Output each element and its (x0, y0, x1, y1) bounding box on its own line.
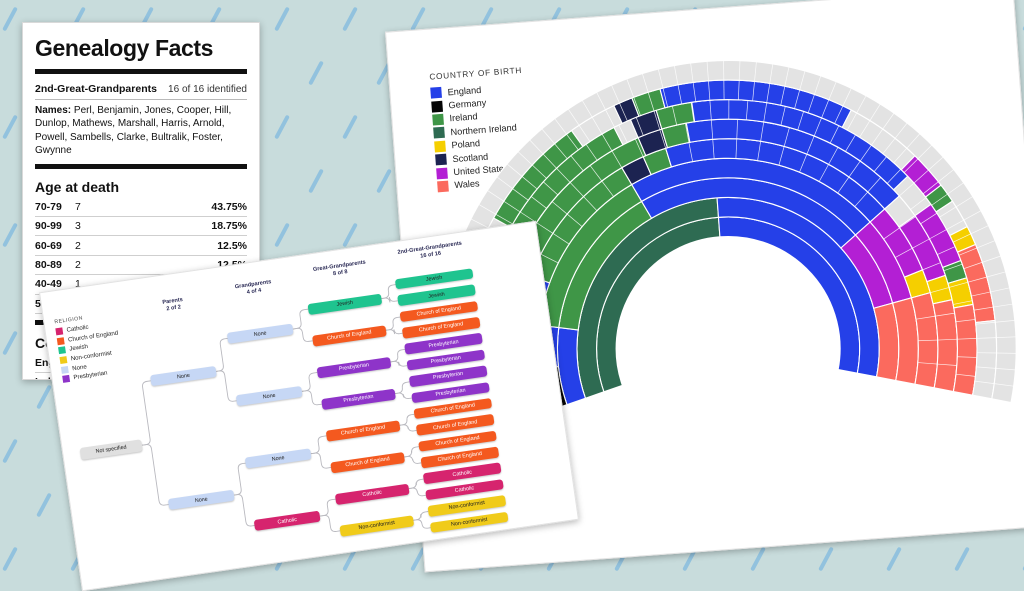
religion-swatch-icon (57, 337, 65, 345)
node-label: Church of England (416, 305, 461, 317)
religion-swatch-icon (61, 366, 69, 374)
age-percent: 12.5% (217, 240, 247, 252)
node-label: Presbyterian (435, 387, 466, 397)
page-title: Genealogy Facts (35, 35, 247, 62)
column-count: 2 of 2 (166, 305, 181, 313)
node-label: Church of England (419, 322, 464, 334)
background-dash (342, 115, 358, 140)
tree-node-grandparent[interactable]: None (245, 448, 312, 468)
religion-swatch-icon (58, 347, 66, 355)
tree-column-header: Parents2 of 2 (131, 292, 216, 319)
node-label: Catholic (277, 516, 297, 525)
tree-column-header: Great-Grandparents8 of 8 (297, 257, 382, 284)
node-label: Presbyterian (339, 362, 370, 372)
node-label: None (271, 455, 285, 463)
age-range: 60-69 (35, 240, 75, 252)
section-divider (35, 164, 247, 169)
tree-node-great-grandparent[interactable]: Church of England (326, 420, 401, 441)
religion-swatch-icon (55, 328, 63, 336)
tree-node-great-grandparent[interactable]: Presbyterian (317, 356, 392, 377)
age-row: 90-99318.75% (35, 217, 247, 236)
background-dash (376, 169, 392, 194)
age-row: 60-69212.5% (35, 236, 247, 255)
age-range: 80-89 (35, 259, 75, 271)
tree-node-parent[interactable]: None (168, 490, 235, 510)
tree-node-great-grandparent[interactable]: Presbyterian (321, 388, 396, 409)
background-dash (818, 547, 834, 572)
node-label: Catholic (452, 469, 472, 478)
age-range: 70-79 (35, 201, 75, 213)
tree-node-grandparent[interactable]: None (227, 324, 294, 344)
tree-node-parent[interactable]: None (150, 366, 217, 386)
node-label: Jewish (428, 291, 445, 299)
background-dash (308, 169, 324, 194)
background-dash (308, 61, 324, 86)
background-dash (36, 385, 52, 410)
age-at-death-title: Age at death (35, 175, 247, 198)
background-dash (36, 493, 52, 518)
tree-column-header: Grandparents4 of 4 (211, 276, 296, 303)
node-label: Non-conformist (448, 500, 485, 511)
node-label: Jewish (426, 275, 443, 283)
node-label: Church of England (341, 424, 386, 436)
node-label: Presbyterian (343, 394, 374, 404)
node-label: None (253, 330, 267, 338)
religion-legend: RELIGION CatholicChurch of EnglandJewish… (54, 311, 124, 385)
tree-node-great-grandparent[interactable]: Jewish (307, 293, 382, 314)
generation-label: 2nd-Great-Grandparents (35, 83, 157, 95)
column-count: 16 of 16 (420, 251, 441, 260)
background-dash (2, 439, 18, 464)
age-percent: 18.75% (211, 220, 247, 232)
background-dash (954, 547, 970, 572)
names-label: Names: (35, 105, 71, 116)
node-label: None (194, 496, 208, 504)
religion-swatch-icon (59, 356, 67, 364)
node-label: Church of England (430, 403, 475, 415)
age-range: 90-99 (35, 220, 75, 232)
node-label: None (177, 372, 191, 380)
tree-node-great-grandparent[interactable]: Catholic (335, 483, 410, 504)
node-label: Presbyterian (428, 339, 459, 349)
background-dash (342, 223, 358, 248)
tree-node-great-grandparent[interactable]: Church of England (312, 325, 387, 346)
age-percent: 43.75% (211, 201, 247, 213)
age-count: 7 (75, 201, 211, 213)
node-label: Church of England (345, 456, 390, 468)
background-dash (750, 547, 766, 572)
node-label: Not specified (95, 444, 127, 454)
node-label: Non-conformist (358, 520, 395, 531)
background-dash (2, 547, 18, 572)
age-count: 3 (75, 220, 211, 232)
node-label: Non-conformist (451, 517, 488, 528)
age-row: 70-79743.75% (35, 198, 247, 217)
tree-column-header: 2nd-Great-Grandparents16 of 16 (388, 239, 473, 266)
religion-swatch-icon (62, 375, 70, 383)
background-dash (2, 115, 18, 140)
tree-node-great-grandparent[interactable]: Church of England (330, 451, 405, 472)
node-label: Church of England (433, 419, 478, 431)
node-label: Jewish (336, 300, 353, 308)
tree-node-grandparent[interactable]: None (236, 386, 303, 406)
background-dash (410, 7, 426, 32)
religion-legend-label: Presbyterian (73, 370, 108, 382)
tree-node-root[interactable]: Not specified (80, 439, 143, 460)
background-dash (274, 223, 290, 248)
title-divider (35, 69, 247, 74)
node-label: Catholic (454, 485, 474, 494)
node-label: Presbyterian (433, 371, 464, 381)
tree-node-great-grandparent[interactable]: Non-conformist (339, 515, 414, 536)
background-dash (2, 331, 18, 356)
background-dash (2, 223, 18, 248)
node-label: Catholic (362, 490, 382, 499)
node-label: Church of England (327, 329, 372, 341)
generation-identified: 16 of 16 identified (168, 84, 247, 95)
column-count: 8 of 8 (333, 270, 348, 278)
column-count: 4 of 4 (247, 288, 262, 296)
node-label: Presbyterian (430, 355, 461, 365)
node-label: Church of England (435, 435, 480, 447)
generation-header: 2nd-Great-Grandparents 16 of 16 identifi… (35, 80, 247, 99)
background-dash (342, 7, 358, 32)
background-dash (274, 7, 290, 32)
node-label: Church of England (437, 451, 482, 463)
background-dash (2, 7, 18, 32)
node-label: None (262, 392, 276, 400)
names-block: Names: Perl, Benjamin, Jones, Cooper, Hi… (35, 100, 247, 164)
background-dash (274, 115, 290, 140)
background-dash (886, 547, 902, 572)
tree-node-grandparent[interactable]: Catholic (254, 511, 321, 531)
age-count: 2 (75, 240, 217, 252)
